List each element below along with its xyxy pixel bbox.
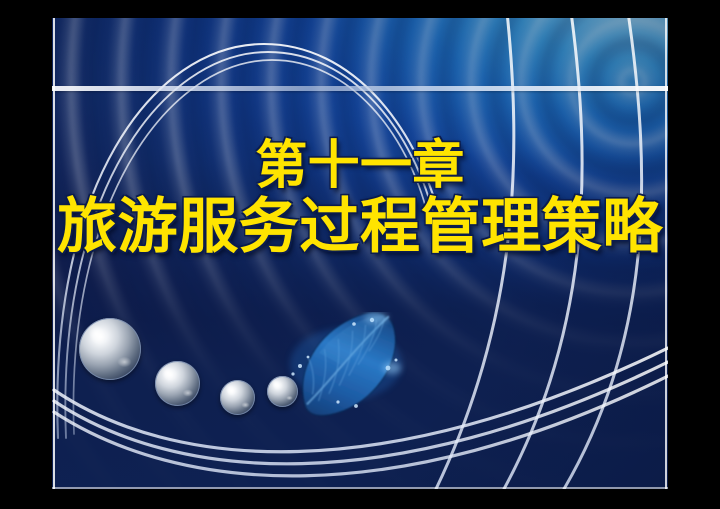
horizontal-accent-bar — [52, 86, 668, 91]
slide-right-edge-highlight — [665, 18, 667, 489]
slide-title-line-1: 第十一章 — [52, 140, 668, 197]
slide-title-line-2: 旅游服务过程管理策略 — [52, 197, 668, 258]
sphere-tiny — [267, 376, 298, 407]
blue-leaf-image — [284, 312, 409, 420]
slide-stage: 第十一章 旅游服务过程管理策略 — [0, 0, 720, 509]
presentation-slide[interactable]: 第十一章 旅游服务过程管理策略 — [52, 18, 668, 489]
slide-left-edge-highlight — [53, 18, 55, 489]
sphere-medium — [155, 361, 200, 406]
slide-title-block: 第十一章 旅游服务过程管理策略 — [52, 140, 668, 258]
slide-bottom-edge-highlight — [52, 487, 668, 489]
sphere-small — [220, 380, 255, 415]
sphere-large — [79, 318, 141, 380]
